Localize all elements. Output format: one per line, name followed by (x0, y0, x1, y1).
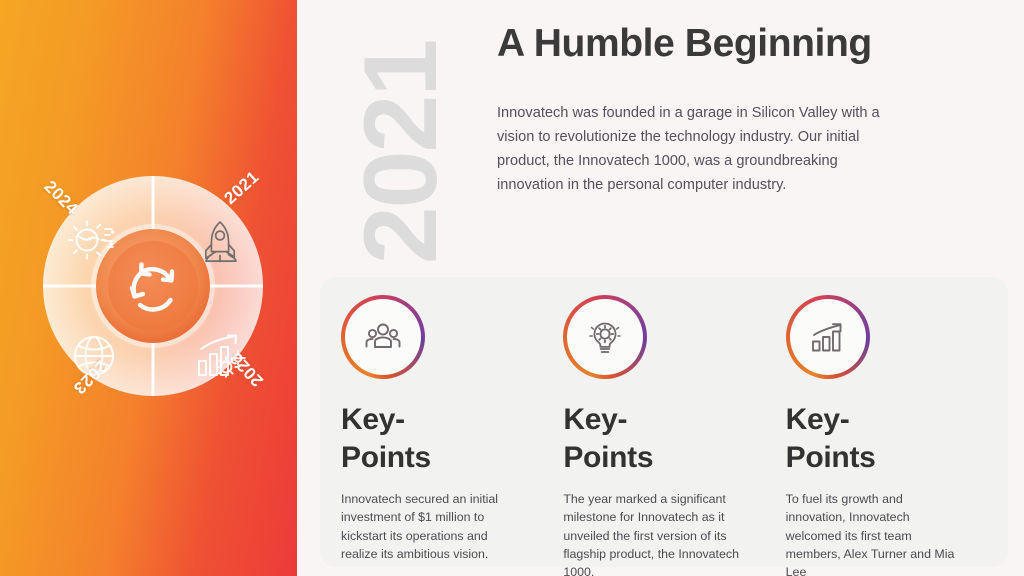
watermark-year: 2021 (342, 41, 461, 264)
keypoint-column-3: Key-Points To fuel its growth and innova… (786, 295, 968, 567)
keypoint-title-1: Key-Points (341, 401, 481, 478)
growth-bar-arrow-icon (790, 299, 866, 375)
keypoint-body-2: The year marked a significant milestone … (563, 490, 741, 576)
intro-paragraph: Innovatech was founded in a garage in Si… (497, 101, 902, 197)
page-title: A Humble Beginning (497, 22, 872, 66)
keypoint-body-1: Innovatech secured an initial investment… (341, 490, 519, 564)
rocket-icon (193, 216, 247, 270)
left-gradient-panel: 2021 2022 2023 2024 (0, 0, 297, 576)
keypoint-body-3: To fuel its growth and innovation, Innov… (786, 490, 964, 576)
keypoints-card: Key-Points Innovatech secured an initial… (320, 277, 1008, 567)
watermark-holder: 2021 (297, 0, 417, 245)
keypoint-badge-2 (563, 295, 647, 379)
recycle-arrows-icon (121, 255, 185, 319)
gear-globe-icon (65, 215, 119, 269)
keypoint-column-1: Key-Points Innovatech secured an initial… (341, 295, 523, 567)
keypoint-title-2: Key-Points (563, 401, 703, 478)
slide-canvas: 2021 2022 2023 2024 2021 A Humble Beginn… (0, 0, 1024, 576)
keypoint-badge-3 (786, 295, 870, 379)
keypoint-title-3: Key-Points (786, 401, 926, 478)
lightbulb-gear-icon (567, 299, 643, 375)
cycle-diagram: 2021 2022 2023 2024 (17, 163, 289, 435)
keypoint-column-2: Key-Points The year marked a significant… (563, 295, 745, 567)
keypoint-badge-1 (341, 295, 425, 379)
team-people-icon (345, 299, 421, 375)
